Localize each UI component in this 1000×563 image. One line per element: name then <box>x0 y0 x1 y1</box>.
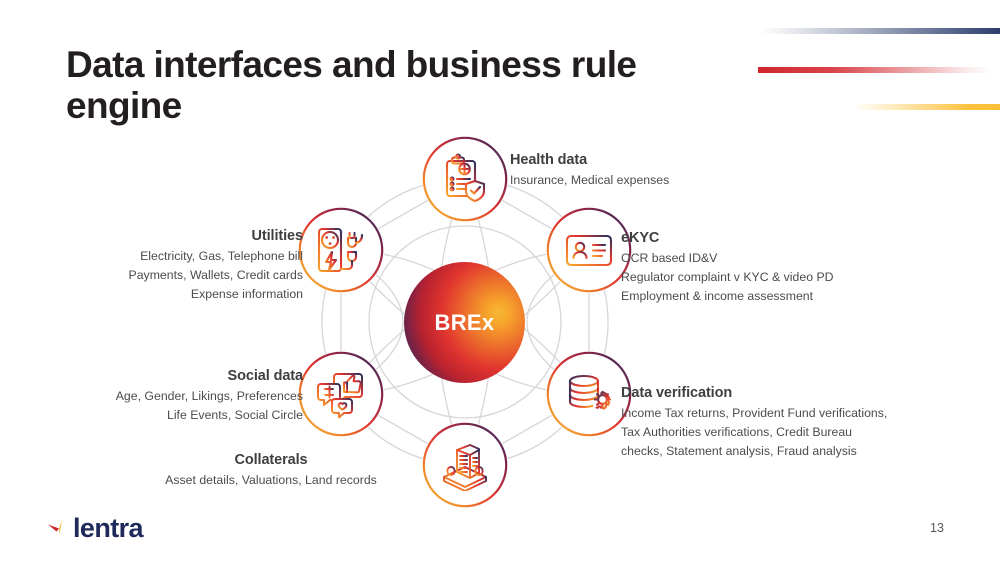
building-land-plot-icon <box>439 439 491 491</box>
label-line: Asset details, Valuations, Land records <box>130 471 412 490</box>
node-data-verification[interactable] <box>546 351 632 437</box>
id-card-icon <box>563 224 615 276</box>
label-title: Data verification <box>621 385 887 401</box>
lentra-logo-text: lentra <box>73 515 143 542</box>
database-gear-icon <box>563 368 615 420</box>
label-line: Life Events, Social Circle <box>62 406 303 425</box>
node-health-data[interactable] <box>422 136 508 222</box>
label-line: Age, Gender, Likings, Preferences <box>62 387 303 406</box>
medical-clipboard-shield-icon <box>439 153 491 205</box>
slide-canvas: Data interfaces and business rule engine <box>0 0 1000 563</box>
label-utilities: Utilities Electricity, Gas, Telephone bi… <box>62 228 303 304</box>
label-ekyc: eKYC OCR based ID&V Regulator complaint … <box>621 230 834 306</box>
label-line: Payments, Wallets, Credit cards <box>62 266 303 285</box>
brex-hub-and-spoke-diagram: BREx <box>0 0 1000 563</box>
lentra-checkmark-logo-icon <box>46 515 72 541</box>
label-line: Insurance, Medical expenses <box>510 171 669 190</box>
page-number: 13 <box>930 521 944 535</box>
label-title: Health data <box>510 152 669 168</box>
label-line: Tax Authorities verifications, Credit Bu… <box>621 423 887 442</box>
label-social-data: Social data Age, Gender, Likings, Prefer… <box>62 368 303 425</box>
brex-hub: BREx <box>404 262 525 383</box>
label-line: Regulator complaint v KYC & video PD <box>621 268 834 287</box>
electric-socket-plug-icon <box>315 224 367 276</box>
node-collaterals[interactable] <box>422 422 508 508</box>
label-title: Utilities <box>62 228 303 244</box>
hub-label: BREx <box>435 310 495 336</box>
node-ekyc[interactable] <box>546 207 632 293</box>
label-health-data: Health data Insurance, Medical expenses <box>510 152 669 190</box>
label-line: Electricity, Gas, Telephone bill <box>62 247 303 266</box>
label-title: Collaterals <box>130 452 412 468</box>
label-line: checks, Statement analysis, Fraud analys… <box>621 442 887 461</box>
label-line: Employment & income assessment <box>621 287 834 306</box>
label-title: Social data <box>62 368 303 384</box>
social-speech-bubbles-icon <box>315 368 367 420</box>
label-line: Income Tax returns, Provident Fund verif… <box>621 404 887 423</box>
label-title: eKYC <box>621 230 834 246</box>
lentra-logo: lentra <box>46 513 143 543</box>
node-utilities[interactable] <box>298 207 384 293</box>
label-line: OCR based ID&V <box>621 249 834 268</box>
label-collaterals: Collaterals Asset details, Valuations, L… <box>130 452 412 490</box>
label-data-verification: Data verification Income Tax returns, Pr… <box>621 385 887 461</box>
label-line: Expense information <box>62 285 303 304</box>
node-social-data[interactable] <box>298 351 384 437</box>
